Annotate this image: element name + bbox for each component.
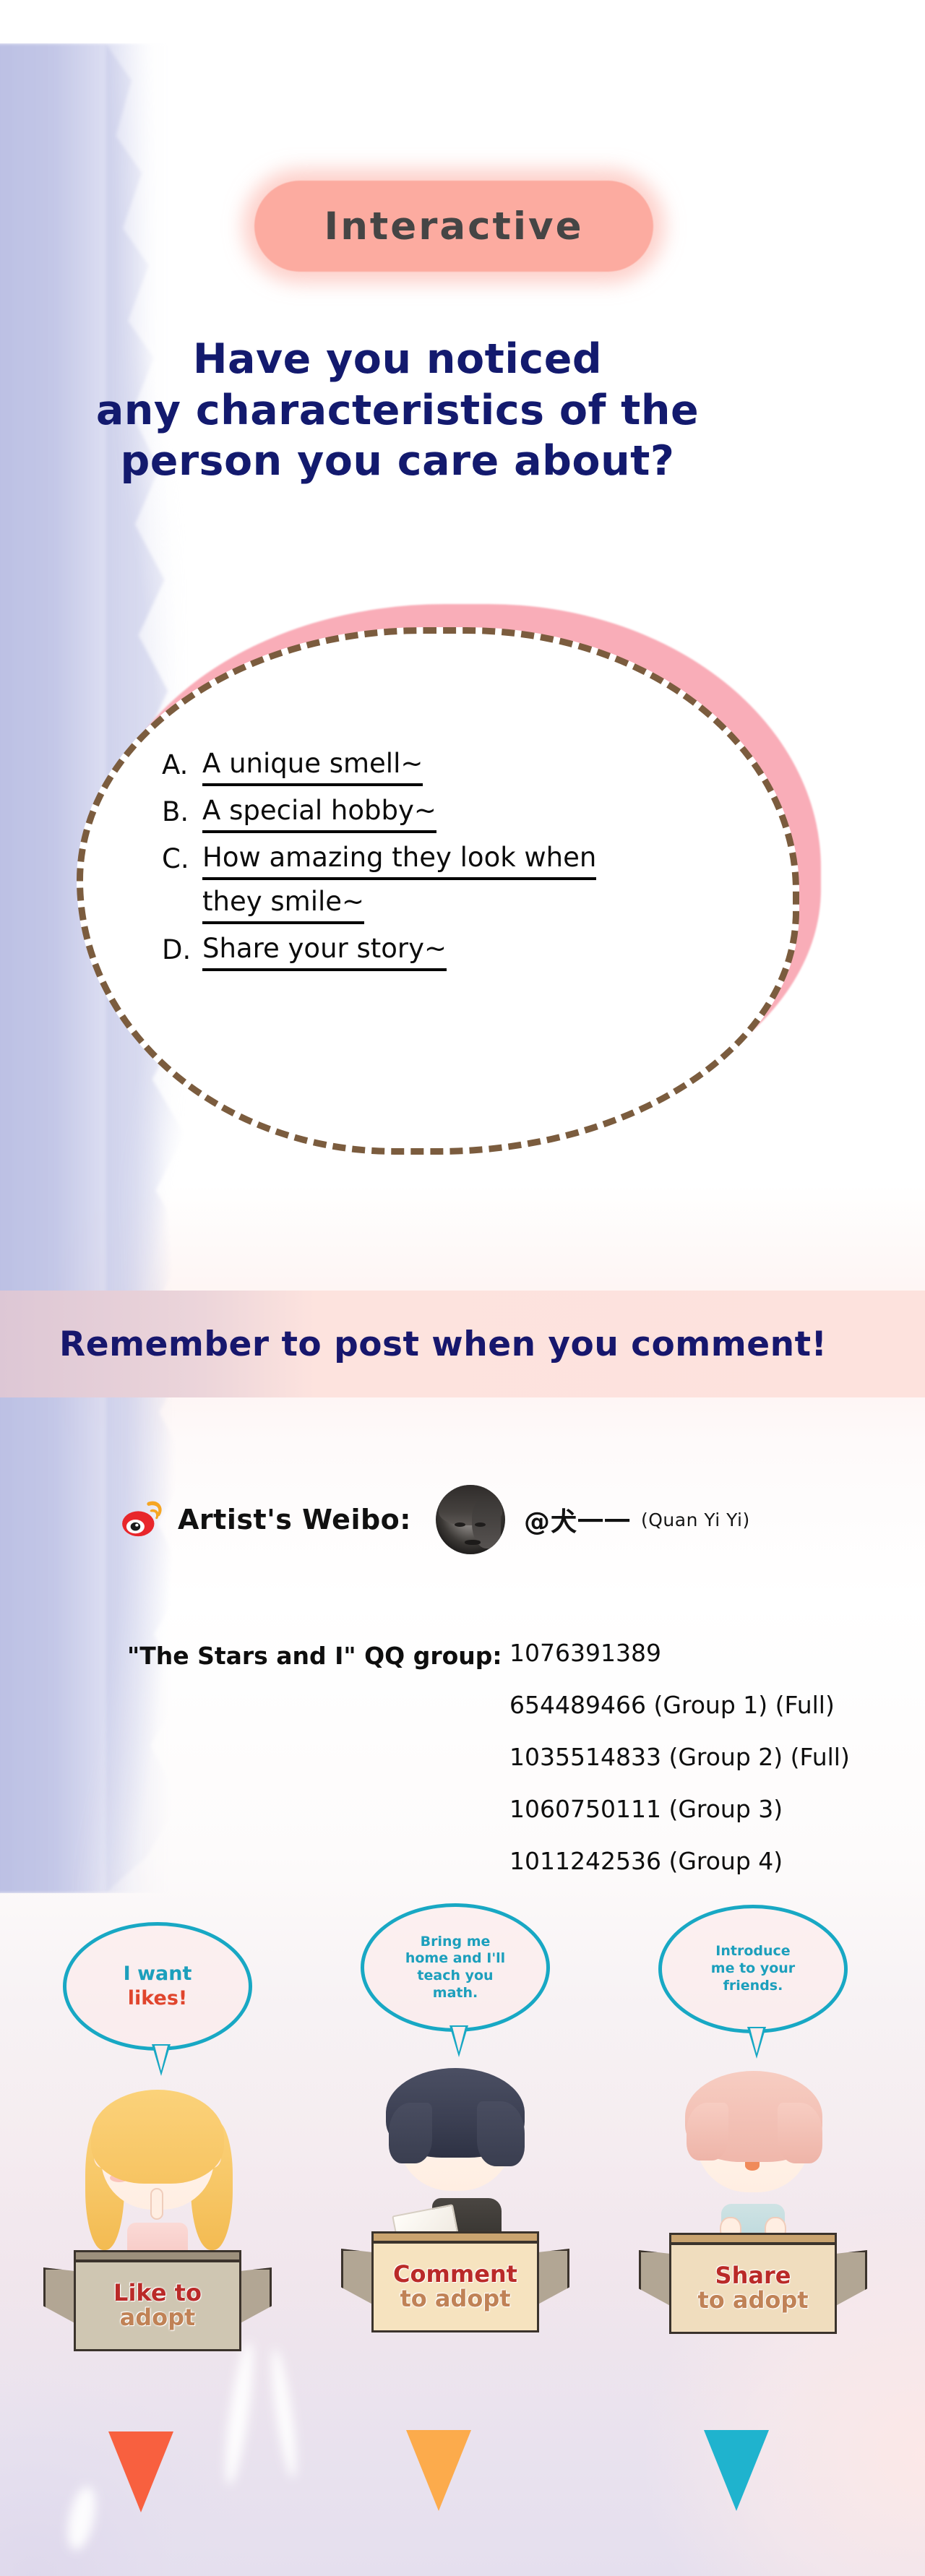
speech-comment-line-3: teach you bbox=[417, 1968, 493, 1983]
qq-group-item-4[interactable]: 1060750111 (Group 3) bbox=[509, 1795, 850, 1823]
pink-hair-bang-left bbox=[687, 2103, 728, 2161]
poll-option-a[interactable]: A. A unique smell~ bbox=[162, 750, 769, 794]
speech-like-line-1: I want bbox=[124, 1963, 192, 1985]
dark-hair-bang-left bbox=[389, 2103, 432, 2163]
arrow-down-comment-icon bbox=[406, 2430, 471, 2511]
speech-bubble-like-text: I want likes! bbox=[111, 1962, 205, 2011]
box-label-like-line-1: Like to bbox=[113, 2281, 202, 2306]
poll-option-b[interactable]: B. A special hobby~ bbox=[162, 797, 769, 841]
box-front-comment: Comment to adopt bbox=[371, 2241, 539, 2332]
box-front-like: Like to adopt bbox=[74, 2260, 241, 2351]
speech-comment-line-2: home and I'll bbox=[405, 1950, 505, 1966]
artist-avatar bbox=[436, 1485, 505, 1554]
adopt-box-share[interactable]: Share to adopt bbox=[645, 2240, 861, 2348]
avatar-eye-left bbox=[455, 1522, 465, 1527]
blonde-hair-top bbox=[91, 2090, 224, 2184]
speech-share-line-3: friends. bbox=[723, 1978, 783, 1994]
box-front-share: Share to adopt bbox=[669, 2243, 837, 2334]
poll-option-d-key: D. bbox=[162, 935, 202, 963]
box-label-like-line-2: adopt bbox=[120, 2306, 196, 2330]
speech-bubble-comment-text: Bring me home and I'll teach you math. bbox=[392, 1934, 518, 2002]
speech-share-line-2: me to your bbox=[711, 1960, 795, 1976]
character-pink-haired-boy bbox=[645, 2062, 861, 2243]
poll-option-d-label: Share your story~ bbox=[202, 935, 447, 971]
box-label-share-line-1: Share bbox=[715, 2264, 791, 2288]
artist-handle-romanized: (Quan Yi Yi) bbox=[641, 1509, 750, 1530]
adopt-box-comment[interactable]: Comment to adopt bbox=[347, 2239, 564, 2347]
artist-weibo-row[interactable]: Artist's Weibo: @犬一一 (Quan Yi Yi) bbox=[121, 1485, 750, 1554]
qq-group-item-5[interactable]: 1011242536 (Group 4) bbox=[509, 1847, 850, 1875]
poll-option-a-label: A unique smell~ bbox=[202, 750, 423, 786]
poll-option-c-label-line-1: How amazing they look when bbox=[202, 844, 596, 880]
page-title-line-3: person you care about? bbox=[0, 436, 795, 487]
adopt-box-like[interactable]: Like to adopt bbox=[49, 2257, 266, 2366]
avatar-eye-right bbox=[475, 1522, 486, 1527]
weibo-icon bbox=[121, 1500, 166, 1539]
cta-column-comment: Bring me home and I'll teach you math. bbox=[318, 1903, 593, 2347]
avatar-mouth bbox=[465, 1540, 481, 1545]
arrow-down-like-icon bbox=[108, 2431, 173, 2512]
box-label-comment-line-2: to adopt bbox=[400, 2287, 510, 2312]
speech-bubble-share-text: Introduce me to your friends. bbox=[698, 1943, 808, 1994]
reminder-banner-text: Remember to post when you comment! bbox=[0, 1291, 925, 1397]
poll-option-b-key: B. bbox=[162, 797, 202, 825]
speech-comment-line-4: math. bbox=[433, 1985, 478, 2001]
interactive-badge-label: Interactive bbox=[254, 181, 653, 272]
speech-tail-comment bbox=[449, 2025, 468, 2057]
qq-group-list: 1076391389 654489466 (Group 1) (Full) 10… bbox=[509, 1639, 850, 1899]
character-blonde-girl bbox=[49, 2080, 266, 2260]
page-title: Have you noticed any characteristics of … bbox=[0, 334, 795, 487]
character-dark-haired-boy bbox=[347, 2061, 564, 2241]
poll-option-c-key: C. bbox=[162, 844, 202, 872]
poll-option-d[interactable]: D. Share your story~ bbox=[162, 935, 769, 979]
speech-tail-like bbox=[152, 2044, 171, 2076]
box-label-share-line-2: to adopt bbox=[697, 2288, 808, 2313]
comic-page: Interactive Have you noticed any charact… bbox=[0, 0, 925, 2576]
qq-group-item-1[interactable]: 1076391389 bbox=[509, 1639, 850, 1667]
speech-comment-line-1: Bring me bbox=[421, 1934, 491, 1950]
speech-bubble-comment: Bring me home and I'll teach you math. bbox=[361, 1903, 550, 2032]
artist-weibo-label: Artist's Weibo: bbox=[178, 1504, 411, 1535]
poll-option-c[interactable]: C. How amazing they look when they smile… bbox=[162, 844, 769, 932]
pink-hair-bang-right bbox=[778, 2103, 822, 2163]
arrow-down-share-icon bbox=[704, 2430, 769, 2511]
box-label-comment-line-1: Comment bbox=[393, 2262, 517, 2287]
poll-options-list: A. A unique smell~ B. A special hobby~ C… bbox=[162, 750, 769, 982]
poll-option-a-key: A. bbox=[162, 750, 202, 778]
speech-bubble-share: Introduce me to your friends. bbox=[658, 1905, 848, 2033]
page-title-line-2: any characteristics of the bbox=[0, 385, 795, 436]
speech-tail-share bbox=[747, 2027, 766, 2059]
qq-group-label: "The Stars and I" QQ group: bbox=[127, 1642, 502, 1670]
page-title-line-1: Have you noticed bbox=[0, 334, 795, 385]
cta-column-share: Introduce me to your friends. bbox=[616, 1905, 890, 2348]
poll-option-c-label-line-2: they smile~ bbox=[202, 888, 364, 924]
dark-hair-bang-right bbox=[477, 2101, 525, 2166]
qq-group-item-3[interactable]: 1035514833 (Group 2) (Full) bbox=[509, 1743, 850, 1771]
speech-bubble-like: I want likes! bbox=[63, 1922, 252, 2051]
avatar-hair bbox=[439, 1485, 502, 1525]
pink-mouth bbox=[745, 2161, 760, 2171]
blonde-finger bbox=[150, 2188, 163, 2220]
speech-like-line-2: likes! bbox=[128, 1987, 187, 2009]
speech-share-line-1: Introduce bbox=[715, 1943, 790, 1959]
qq-group-item-2[interactable]: 654489466 (Group 1) (Full) bbox=[509, 1691, 850, 1719]
artist-handle[interactable]: @犬一一 bbox=[524, 1501, 631, 1538]
cta-column-like: I want likes! bbox=[20, 1922, 295, 2366]
poll-option-b-label: A special hobby~ bbox=[202, 797, 436, 833]
